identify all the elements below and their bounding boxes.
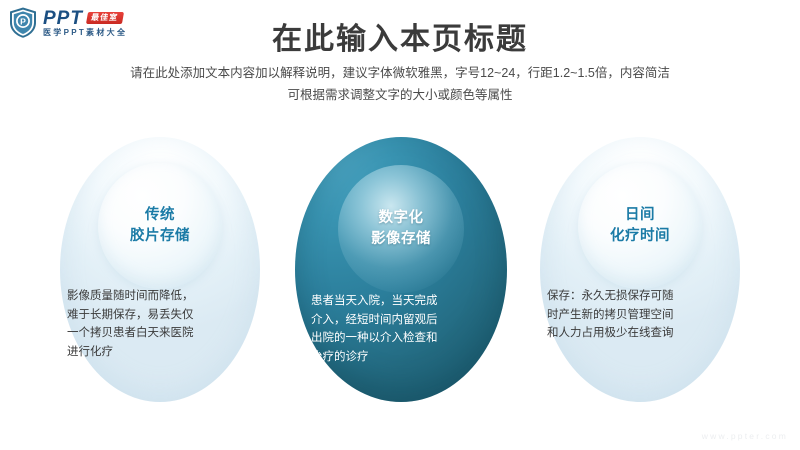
card-body-line: 患者当天入院，当天完成 (311, 292, 491, 311)
card-daytime-chemotherapy[interactable]: 日间 化疗时间 保存：永久无损保存可随 时产生新的拷贝管理空间 和人力占用极少在… (540, 137, 740, 402)
card-title-line: 传统 (98, 205, 222, 226)
card-inner-sphere: 数字化 影像存储 (338, 165, 464, 293)
card-body-line: 进行化疗 (67, 343, 253, 362)
card-body: 保存：永久无损保存可随 时产生新的拷贝管理空间 和人力占用极少在线查询 (547, 287, 733, 343)
card-body-line: 难于长期保存，易丢失仅 (67, 306, 253, 325)
card-body-line: 出院的一种以介入检查和 (311, 329, 491, 348)
card-inner-sphere: 传统 胶片存储 (98, 163, 222, 289)
card-title-line: 胶片存储 (98, 226, 222, 247)
page-subtitle: 请在此处添加文本内容加以解释说明，建议字体微软雅黑，字号12~24，行距1.2~… (0, 63, 800, 107)
card-digital-image-storage[interactable]: 数字化 影像存储 患者当天入院，当天完成 介入，经短时间内留观后 出院的一种以介… (295, 137, 507, 402)
card-traditional-film-storage[interactable]: 传统 胶片存储 影像质量随时间而降低， 难于长期保存，易丢失仅 一个拷贝患者白天… (60, 137, 260, 402)
card-title: 传统 胶片存储 (98, 205, 222, 247)
page-title: 在此输入本页标题 (0, 14, 800, 58)
card-title-line: 影像存储 (338, 229, 464, 250)
card-body: 影像质量随时间而降低， 难于长期保存，易丢失仅 一个拷贝患者白天来医院 进行化疗 (67, 287, 253, 362)
card-title-line: 日间 (578, 205, 702, 226)
subtitle-line: 请在此处添加文本内容加以解释说明，建议字体微软雅黑，字号12~24，行距1.2~… (0, 63, 800, 85)
card-body-line: 治疗的诊疗 (311, 348, 491, 367)
card-title-line: 化疗时间 (578, 226, 702, 247)
subtitle-line: 可根据需求调整文字的大小或颜色等属性 (0, 85, 800, 107)
card-title-line: 数字化 (338, 208, 464, 229)
card-body-line: 保存：永久无损保存可随 (547, 287, 733, 306)
card-body-line: 和人力占用极少在线查询 (547, 324, 733, 343)
cards-container: 传统 胶片存储 影像质量随时间而降低， 难于长期保存，易丢失仅 一个拷贝患者白天… (0, 137, 800, 402)
watermark: www.ppter.com (702, 431, 788, 441)
card-body-line: 一个拷贝患者白天来医院 (67, 324, 253, 343)
card-body-line: 时产生新的拷贝管理空间 (547, 306, 733, 325)
card-title: 数字化 影像存储 (338, 208, 464, 250)
card-inner-sphere: 日间 化疗时间 (578, 163, 702, 289)
card-body-line: 介入，经短时间内留观后 (311, 311, 491, 330)
card-body: 患者当天入院，当天完成 介入，经短时间内留观后 出院的一种以介入检查和 治疗的诊… (311, 292, 491, 367)
card-body-line: 影像质量随时间而降低， (67, 287, 253, 306)
card-title: 日间 化疗时间 (578, 205, 702, 247)
